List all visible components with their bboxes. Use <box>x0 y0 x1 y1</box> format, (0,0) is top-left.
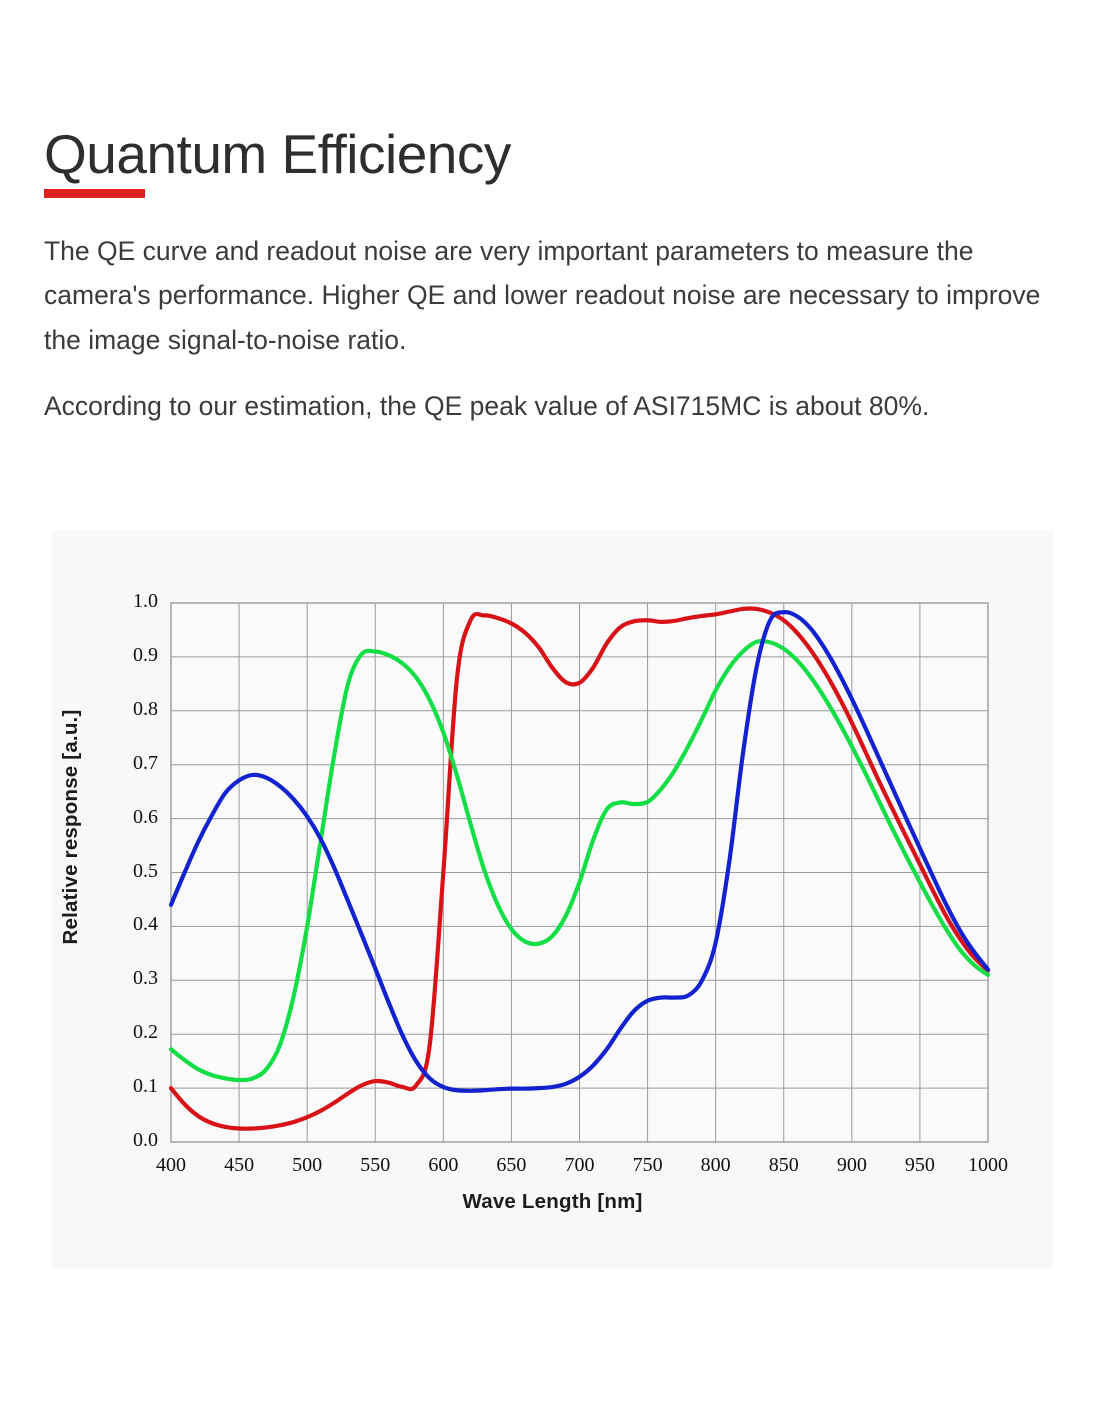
estimation-paragraph: According to our estimation, the QE peak… <box>44 384 1056 429</box>
qe-page: Quantum Efficiency The QE curve and read… <box>0 0 1100 1422</box>
y-tick-label: 0.2 <box>98 1021 158 1044</box>
title-underline-accent <box>44 189 145 198</box>
qe-chart-card: Relative response [a.u.] Wave Length [nm… <box>52 530 1053 1268</box>
y-tick-label: 0.6 <box>98 806 158 829</box>
article-content: Quantum Efficiency The QE curve and read… <box>0 0 1100 429</box>
x-tick-label: 1000 <box>948 1154 1028 1177</box>
y-tick-label: 0.3 <box>98 967 158 990</box>
qe-chart: Relative response [a.u.] Wave Length [nm… <box>52 530 1053 1268</box>
intro-paragraph: The QE curve and readout noise are very … <box>44 229 1056 363</box>
y-tick-label: 0.7 <box>98 752 158 775</box>
y-tick-label: 0.9 <box>98 644 158 667</box>
page-title: Quantum Efficiency <box>44 0 1056 186</box>
y-tick-label: 0.5 <box>98 860 158 883</box>
y-tick-label: 0.0 <box>98 1129 158 1152</box>
y-tick-label: 0.4 <box>98 913 158 936</box>
y-tick-label: 0.1 <box>98 1075 158 1098</box>
y-tick-label: 0.8 <box>98 698 158 721</box>
y-tick-label: 1.0 <box>98 590 158 613</box>
